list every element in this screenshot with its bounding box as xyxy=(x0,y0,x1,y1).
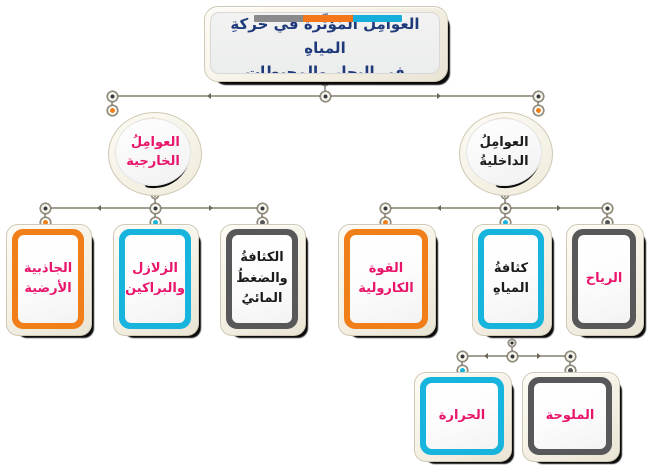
arrow-tick xyxy=(209,205,213,211)
branch-node-internal[interactable]: العوامِلُ الداخليةُ xyxy=(459,112,551,194)
junction-dot xyxy=(40,203,51,214)
leaf-node-gravity[interactable]: الجاذبية الأرضية xyxy=(6,224,90,334)
branch-face-external: العوامِلُ الخارجية xyxy=(115,118,191,186)
leaf-node-quakes[interactable]: الزلازل والبراكين xyxy=(113,224,197,334)
diagram-title-line-2: في البحارِ والمحيطاتِ xyxy=(211,60,439,75)
stripe-segment-cyan xyxy=(353,15,402,22)
concept-map-canvas: العوامِلُ المُؤثِّرةُ في حركةِ المياهِ ف… xyxy=(0,0,652,473)
junction-dot xyxy=(602,203,613,214)
leaf-label-coriolis: القوة الكارولية xyxy=(350,259,422,299)
leaf-node-salinity[interactable]: الملوحة xyxy=(522,372,618,460)
arrow-tick xyxy=(437,93,441,99)
leaf-face-density-pressure: الكثافةُ والضغطُ المائيُ xyxy=(232,235,292,323)
stripe-segment-orange xyxy=(303,15,352,22)
arrow-tick xyxy=(484,353,488,359)
junction-dot xyxy=(508,339,516,347)
leaf-face-quakes: الزلازل والبراكين xyxy=(125,235,185,323)
leaf-label-winds: الرياح xyxy=(578,269,630,289)
branch-node-external[interactable]: العوامِلُ الخارجية xyxy=(108,112,200,194)
branch-label-external: العوامِلُ الخارجية xyxy=(126,133,180,172)
leaf-label-water-density: كثافةُ المياهِ xyxy=(484,259,538,299)
arrow-tick xyxy=(97,205,101,211)
junction-dot xyxy=(150,203,161,214)
junction-dot xyxy=(457,351,468,362)
junction-dot xyxy=(500,203,511,214)
arrow-tick xyxy=(557,205,561,211)
diagram-title-box: العوامِلُ المُؤثِّرةُ في حركةِ المياهِ ف… xyxy=(204,6,446,80)
leaf-node-density-pressure[interactable]: الكثافةُ والضغطُ المائيُ xyxy=(220,224,304,334)
leaf-node-winds[interactable]: الرياح xyxy=(566,224,642,334)
stripe-segment-gray xyxy=(254,15,303,22)
branch-face-internal: العوامِلُ الداخليةُ xyxy=(466,118,542,186)
junction-dot xyxy=(257,203,268,214)
junction-dot xyxy=(507,351,518,362)
junction-dot xyxy=(380,203,391,214)
junction-dot xyxy=(107,91,118,102)
leaf-label-heat: الحرارة xyxy=(426,406,498,426)
junction-dot xyxy=(565,351,576,362)
leaf-face-salinity: الملوحة xyxy=(534,383,606,449)
leaf-face-heat: الحرارة xyxy=(426,383,498,449)
leaf-face-winds: الرياح xyxy=(578,235,630,323)
arrow-tick xyxy=(437,205,441,211)
leaf-label-density-pressure: الكثافةُ والضغطُ المائيُ xyxy=(232,248,292,310)
leaf-face-gravity: الجاذبية الأرضية xyxy=(18,235,78,323)
leaf-node-water-density[interactable]: كثافةُ المياهِ xyxy=(472,224,550,334)
arrow-tick xyxy=(207,93,211,99)
leaf-node-heat[interactable]: الحرارة xyxy=(414,372,510,460)
leaf-node-coriolis[interactable]: القوة الكارولية xyxy=(338,224,434,334)
arrow-tick xyxy=(537,353,541,359)
junction-dot xyxy=(533,91,544,102)
branch-label-internal: العوامِلُ الداخليةُ xyxy=(479,133,528,172)
leaf-face-water-density: كثافةُ المياهِ xyxy=(484,235,538,323)
leaf-label-salinity: الملوحة xyxy=(534,406,606,426)
junction-dot xyxy=(320,91,331,102)
leaf-label-quakes: الزلازل والبراكين xyxy=(125,259,185,299)
leaf-label-gravity: الجاذبية الأرضية xyxy=(18,259,78,299)
title-color-stripe xyxy=(254,15,402,22)
leaf-face-coriolis: القوة الكارولية xyxy=(350,235,422,323)
